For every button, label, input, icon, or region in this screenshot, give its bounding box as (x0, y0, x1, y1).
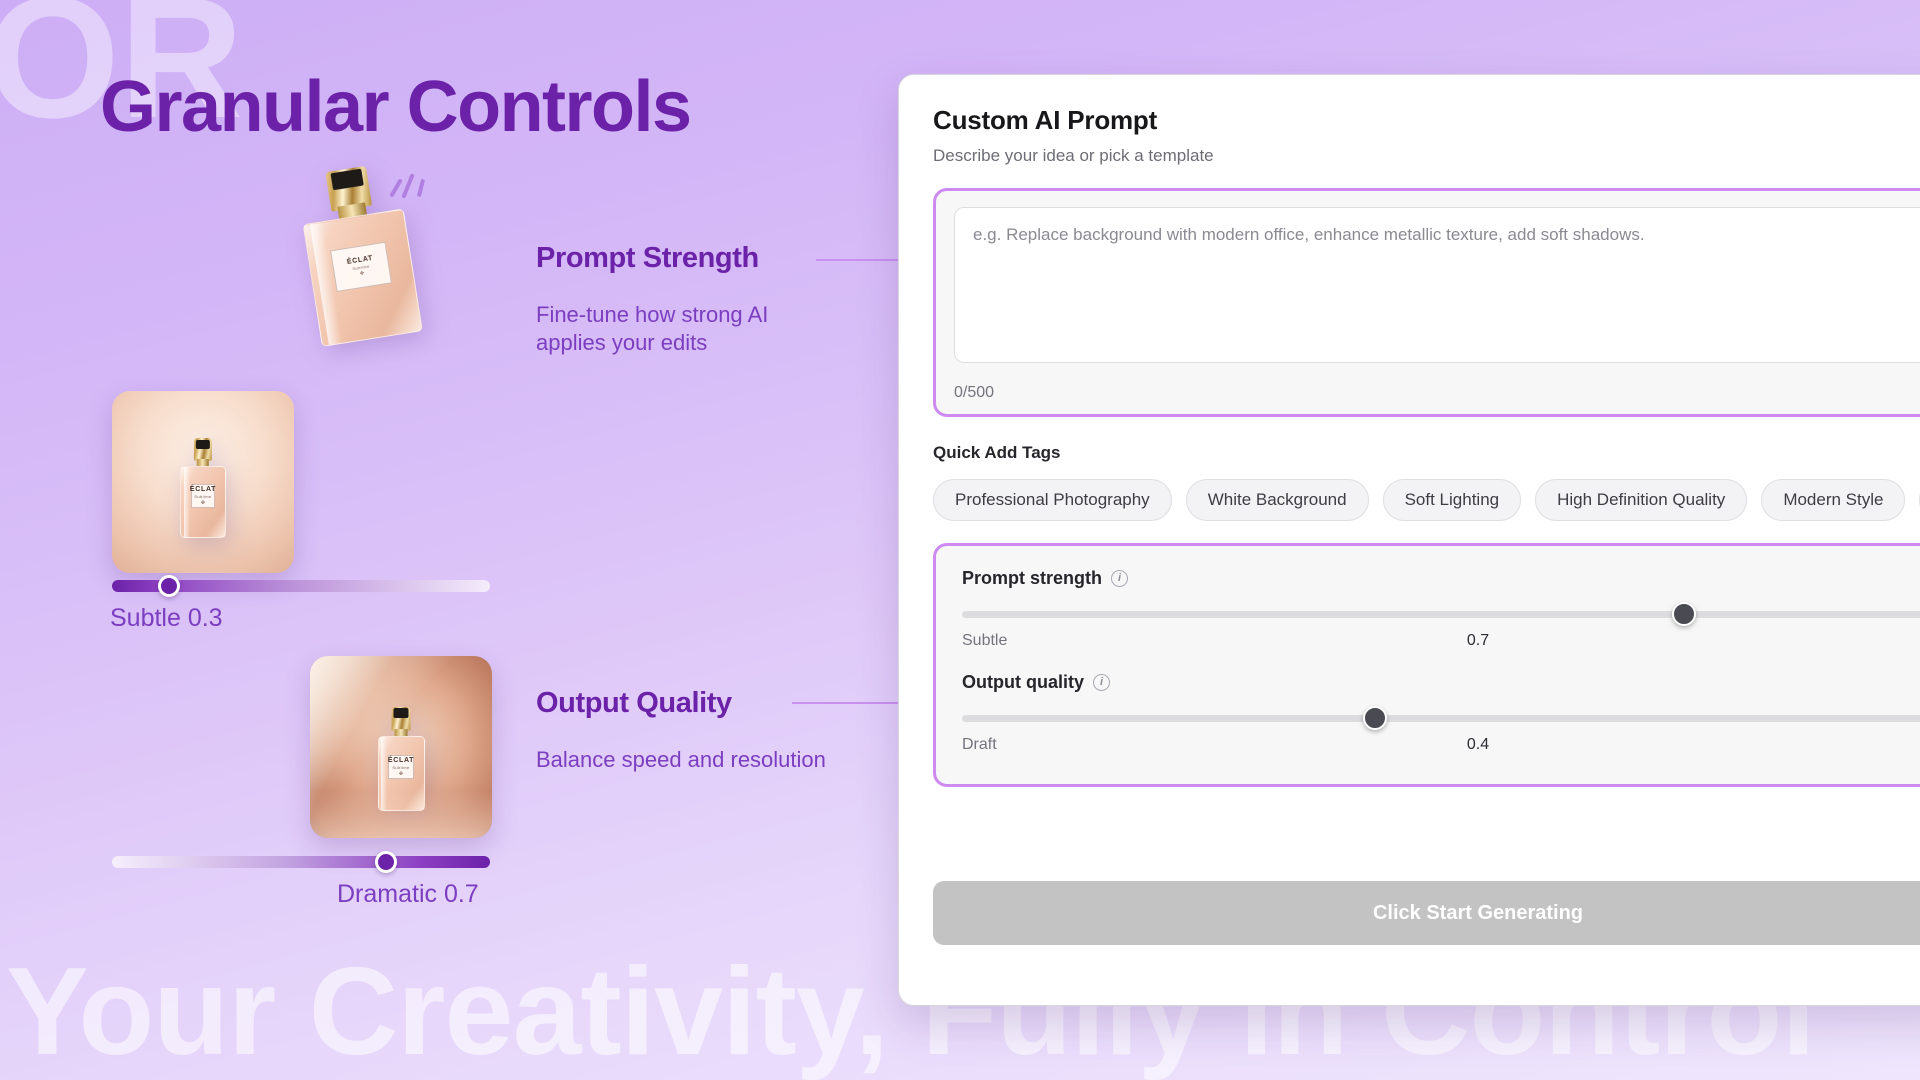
slider-value: 0.4 (1467, 736, 1489, 754)
output-quality-slider[interactable] (962, 715, 1920, 722)
page-title: Granular Controls (100, 70, 691, 146)
prompt-strength-slider[interactable] (962, 611, 1920, 618)
custom-ai-prompt-panel: Custom AI Prompt Describe your idea or p… (898, 74, 1920, 1006)
tag-pill[interactable]: High Definition Quality (1535, 479, 1747, 521)
output-quality-label: Output quality (962, 672, 1084, 693)
tag-pill[interactable]: Modern Style (1761, 479, 1905, 521)
callout-title: Output Quality (536, 688, 836, 720)
preview-slider-label-subtle: Subtle 0.3 (110, 604, 223, 633)
prompt-input-section: 0/500 (933, 188, 1920, 417)
generation-settings-section: Prompt strength i Subtle 0.7 Output qual… (933, 543, 1920, 787)
callout-description: Fine-tune how strong AI applies your edi… (536, 301, 836, 357)
slider-min-label: Subtle (962, 632, 1007, 650)
quick-add-tags-heading: Quick Add Tags (933, 443, 1920, 463)
callout-prompt-strength: Prompt Strength Fine-tune how strong AI … (536, 243, 836, 357)
prompt-strength-group: Prompt strength i Subtle 0.7 (962, 568, 1920, 654)
screenshot-root: OR Your Creativity, Fully in Control Gra… (0, 0, 1920, 1080)
slider-knob[interactable] (158, 575, 180, 597)
sparkle-icon (392, 170, 432, 204)
bottle-cap-icon (392, 707, 411, 731)
prompt-strength-footer: Subtle 0.7 (962, 632, 1920, 654)
bottle-label: ÉCLAT Sublime ✤ (388, 755, 413, 780)
preview-slider-label-dramatic: Dramatic 0.7 (337, 880, 479, 909)
bottle-label: ÉCLAT Sublime ✤ (191, 484, 215, 508)
character-counter: 0/500 (954, 384, 1920, 402)
slider-value: 0.7 (1467, 632, 1489, 650)
output-quality-group: Output quality i Draft 0.4 (962, 672, 1920, 758)
bottle-label: ÉCLAT Sublime ✤ (330, 242, 392, 292)
output-quality-label-row: Output quality i (962, 672, 1920, 693)
preview-image-subtle: ÉCLAT Sublime ✤ (112, 391, 294, 573)
preview-image-dramatic: ÉCLAT Sublime ✤ (310, 656, 492, 838)
quick-add-tags-row: Professional Photography White Backgroun… (933, 479, 1920, 521)
info-icon[interactable]: i (1111, 570, 1128, 587)
tag-pill[interactable]: Soft Lighting (1383, 479, 1522, 521)
slider-knob[interactable] (1363, 706, 1387, 730)
slider-min-label: Draft (962, 736, 997, 754)
start-generating-button[interactable]: Click Start Generating (933, 881, 1920, 945)
prompt-strength-label: Prompt strength (962, 568, 1102, 589)
tag-pill[interactable]: White Background (1186, 479, 1369, 521)
prompt-strength-label-row: Prompt strength i (962, 568, 1920, 589)
callout-title: Prompt Strength (536, 243, 836, 275)
tag-pill[interactable]: Professional Photography (933, 479, 1172, 521)
panel-subtitle: Describe your idea or pick a template (933, 146, 1920, 166)
panel-title: Custom AI Prompt (933, 105, 1920, 136)
slider-knob[interactable] (1672, 602, 1696, 626)
info-icon[interactable]: i (1093, 674, 1110, 691)
output-quality-footer: Draft 0.4 (962, 736, 1920, 758)
preview-slider-subtle[interactable] (112, 580, 490, 592)
callout-description: Balance speed and resolution (536, 746, 836, 774)
prompt-textarea[interactable] (954, 207, 1920, 363)
bottle-cap-icon (194, 438, 212, 461)
preview-slider-dramatic[interactable] (112, 856, 490, 868)
callout-output-quality: Output Quality Balance speed and resolut… (536, 688, 836, 774)
slider-knob[interactable] (375, 851, 397, 873)
